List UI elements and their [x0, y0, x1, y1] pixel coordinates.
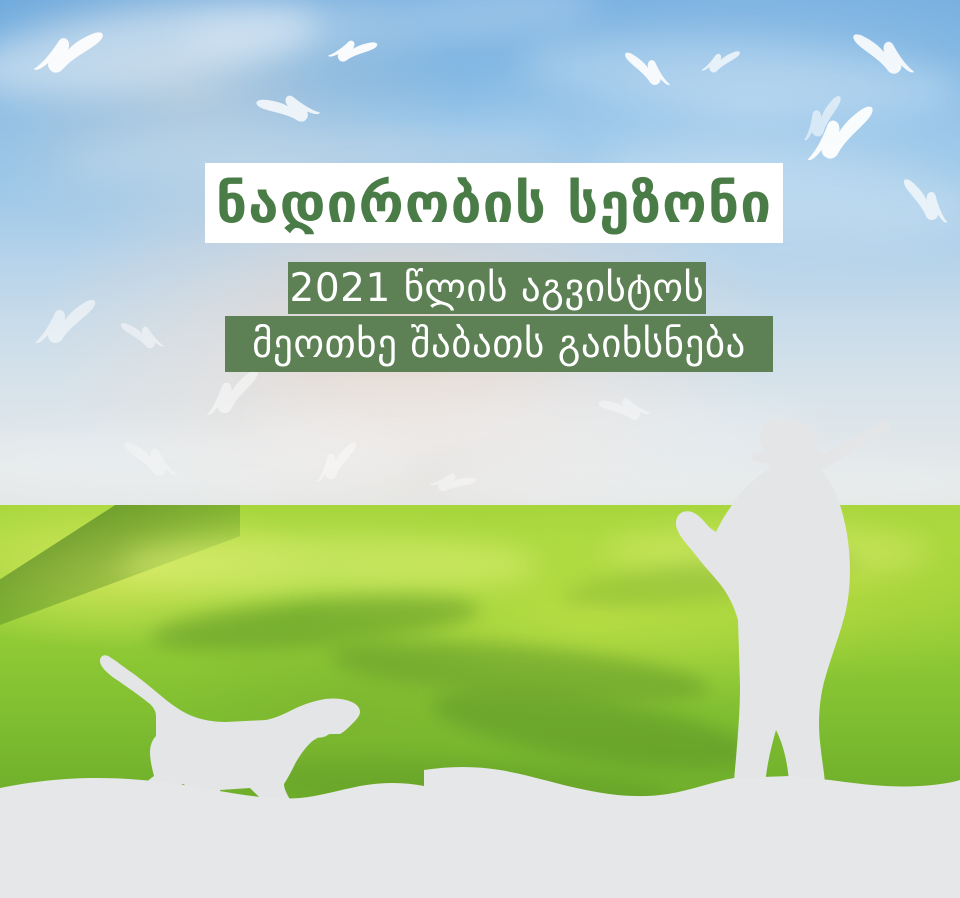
grass-highlight	[120, 535, 540, 595]
bird-icon	[116, 318, 167, 355]
subtitle-line2: მეოთხე შაბათს გაიხსნება	[252, 325, 746, 364]
bird-icon	[699, 47, 743, 78]
subtitle-band-line1: 2021 წლის აგვისტოს	[288, 262, 706, 314]
bird-icon	[28, 26, 110, 80]
page-title: ნადირობის სეზონი	[216, 176, 772, 231]
subtitle-band-line2: მეოთხე შაბათს გაიხსნება	[225, 316, 773, 372]
subtitle-line1: 2021 წლის აგვისტოს	[290, 269, 705, 308]
headline-band: ნადირობის სეზონი	[205, 163, 783, 243]
foreground-band	[0, 748, 960, 898]
poster-canvas: ნადირობის სეზონი 2021 წლის აგვისტოს მეოთ…	[0, 0, 960, 898]
bird-icon	[326, 31, 380, 72]
